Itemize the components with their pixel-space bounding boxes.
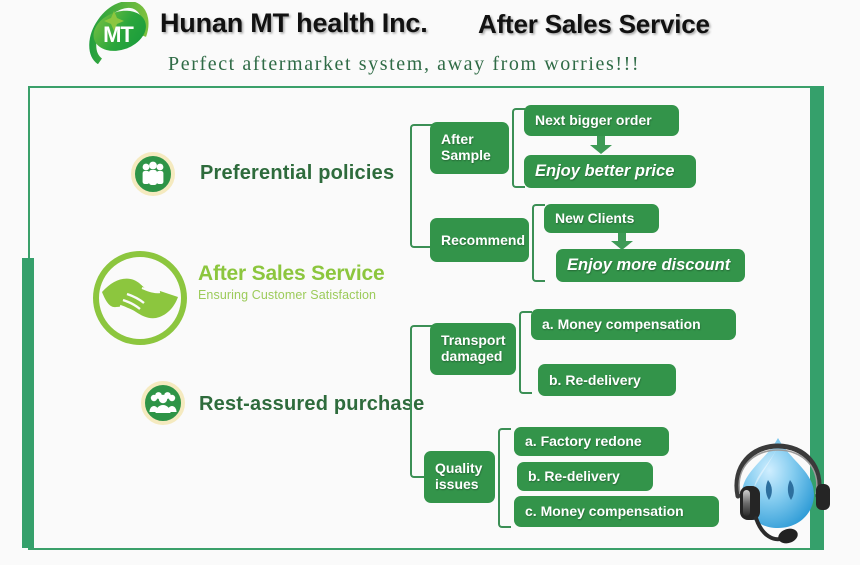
arrow-down-icon	[590, 136, 612, 154]
sidebar-item-label-preferential-policies: Preferential policies	[200, 162, 394, 185]
flow-node-recommend[interactable]: Recommend	[430, 218, 529, 262]
page-title: After Sales Service	[478, 9, 710, 40]
after-sales-service-brand: After Sales Service Ensuring Customer Sa…	[198, 262, 384, 302]
arrow-down-icon	[611, 233, 633, 250]
flow-node-line: Sample	[441, 147, 498, 163]
group-people-icon	[131, 152, 175, 196]
flow-item-enjoy-better-price[interactable]: Enjoy better price	[524, 155, 696, 188]
flow-item-next-bigger-order[interactable]: Next bigger order	[524, 105, 679, 136]
slide-root: MT Hunan MT health Inc. After Sales Serv…	[0, 0, 860, 565]
bracket-group-preferential	[410, 124, 432, 248]
crowd-people-icon	[141, 381, 185, 425]
flow-item-enjoy-more-discount[interactable]: Enjoy more discount	[556, 249, 745, 282]
handshake-circle-icon	[90, 248, 190, 348]
flow-item-new-clients[interactable]: New Clients	[544, 204, 659, 233]
sidebar-item-label-rest-assured-purchase: Rest-assured purchase	[199, 393, 424, 416]
mt-company-logo-icon: MT	[62, 2, 172, 64]
flow-node-line: Transport	[441, 332, 505, 348]
flow-node-line: damaged	[441, 348, 505, 364]
bracket-quality-children	[498, 428, 511, 528]
flow-item-factory-redone[interactable]: a. Factory redone	[514, 427, 669, 456]
flow-node-transport-damaged[interactable]: Transport damaged	[430, 323, 516, 375]
flow-node-line: issues	[435, 476, 484, 492]
flow-node-quality-issues[interactable]: Quality issues	[424, 451, 495, 503]
flow-node-after-sample[interactable]: After Sample	[430, 122, 509, 174]
brand-subtitle: Ensuring Customer Satisfaction	[198, 288, 384, 302]
left-accent-bar	[22, 258, 34, 548]
flow-node-line: After	[441, 131, 498, 147]
title-row: Hunan MT health Inc. After Sales Service	[160, 8, 860, 48]
flow-item-re-delivery-transport[interactable]: b. Re-delivery	[538, 364, 676, 396]
company-title: Hunan MT health Inc.	[160, 8, 428, 39]
flow-item-money-compensation-transport[interactable]: a. Money compensation	[531, 309, 736, 340]
svg-text:MT: MT	[103, 22, 134, 47]
tagline: Perfect aftermarket system, away from wo…	[168, 53, 640, 76]
flow-item-money-compensation-quality[interactable]: c. Money compensation	[514, 496, 719, 527]
flow-node-line: Quality	[435, 460, 484, 476]
header: MT Hunan MT health Inc. After Sales Serv…	[0, 0, 860, 88]
brand-title: After Sales Service	[198, 262, 384, 286]
customer-service-headset-mascot-icon	[716, 424, 840, 546]
flow-item-re-delivery-quality[interactable]: b. Re-delivery	[517, 462, 653, 491]
